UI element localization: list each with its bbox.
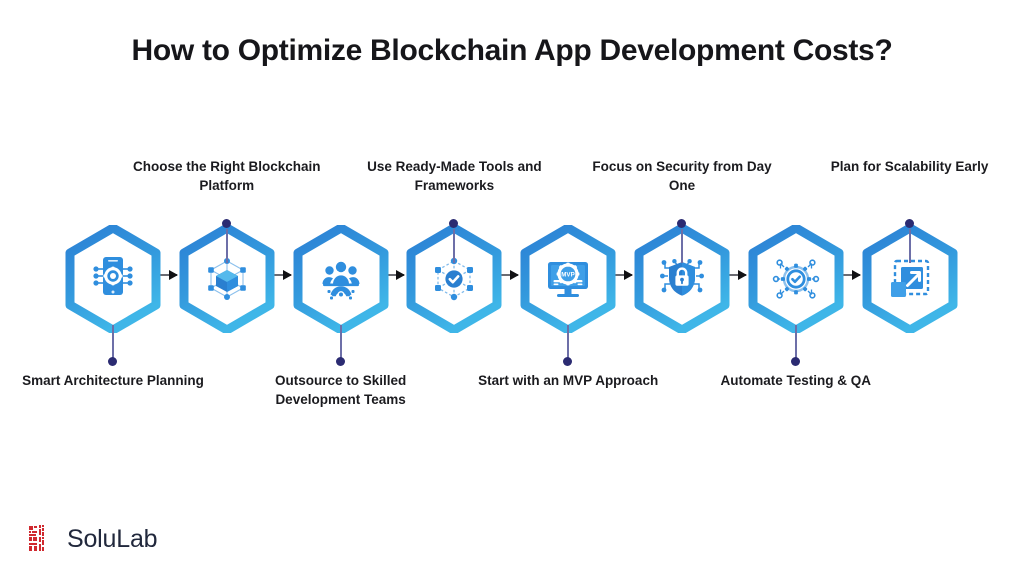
step-label: Start with an MVP Approach — [474, 371, 662, 390]
step-hexagon: MVP — [520, 225, 616, 333]
scale-arrow-icon — [891, 261, 928, 297]
gear-check-nodes-icon — [773, 260, 818, 298]
step-label: Choose the Right Blockchain Platform — [133, 157, 321, 195]
step-dot — [336, 357, 345, 366]
solulab-mark-icon — [28, 524, 58, 554]
step-dot — [222, 219, 231, 228]
step-stem — [226, 229, 228, 263]
step-stem — [453, 229, 455, 263]
step-dot — [108, 357, 117, 366]
step-label: Automate Testing & QA — [702, 371, 890, 390]
step-dot — [791, 357, 800, 366]
network-check-icon — [435, 258, 473, 300]
svg-text:MVP: MVP — [561, 272, 574, 279]
step-dot — [677, 219, 686, 228]
blockchain-cube-icon — [208, 258, 246, 300]
step-hexagon — [293, 225, 389, 333]
step-stem — [795, 325, 797, 359]
step-hexagon — [65, 225, 161, 333]
step-hexagon — [748, 225, 844, 333]
step-stem — [909, 229, 911, 263]
step-dot — [905, 219, 914, 228]
logo-text: SoluLab — [67, 525, 157, 554]
step-stem — [340, 325, 342, 359]
step-label: Use Ready-Made Tools and Frameworks — [360, 157, 548, 195]
step-dot — [563, 357, 572, 366]
step-stem — [567, 325, 569, 359]
step-label: Smart Architecture Planning — [19, 371, 207, 390]
shield-lock-circuit-icon — [660, 259, 704, 296]
brand-logo: SoluLab — [28, 524, 157, 554]
monitor-mvp-gear-icon: MVP — [548, 262, 588, 297]
mobile-gear-network-icon — [93, 257, 132, 295]
step-stem — [681, 229, 683, 263]
step-label: Outsource to Skilled Development Teams — [247, 371, 435, 409]
step-label: Focus on Security from Day One — [588, 157, 776, 195]
step-label: Plan for Scalability Early — [816, 157, 1004, 176]
team-gear-icon — [322, 262, 359, 300]
step-stem — [112, 325, 114, 359]
process-flow: Smart Architecture Planning — [0, 0, 1024, 576]
